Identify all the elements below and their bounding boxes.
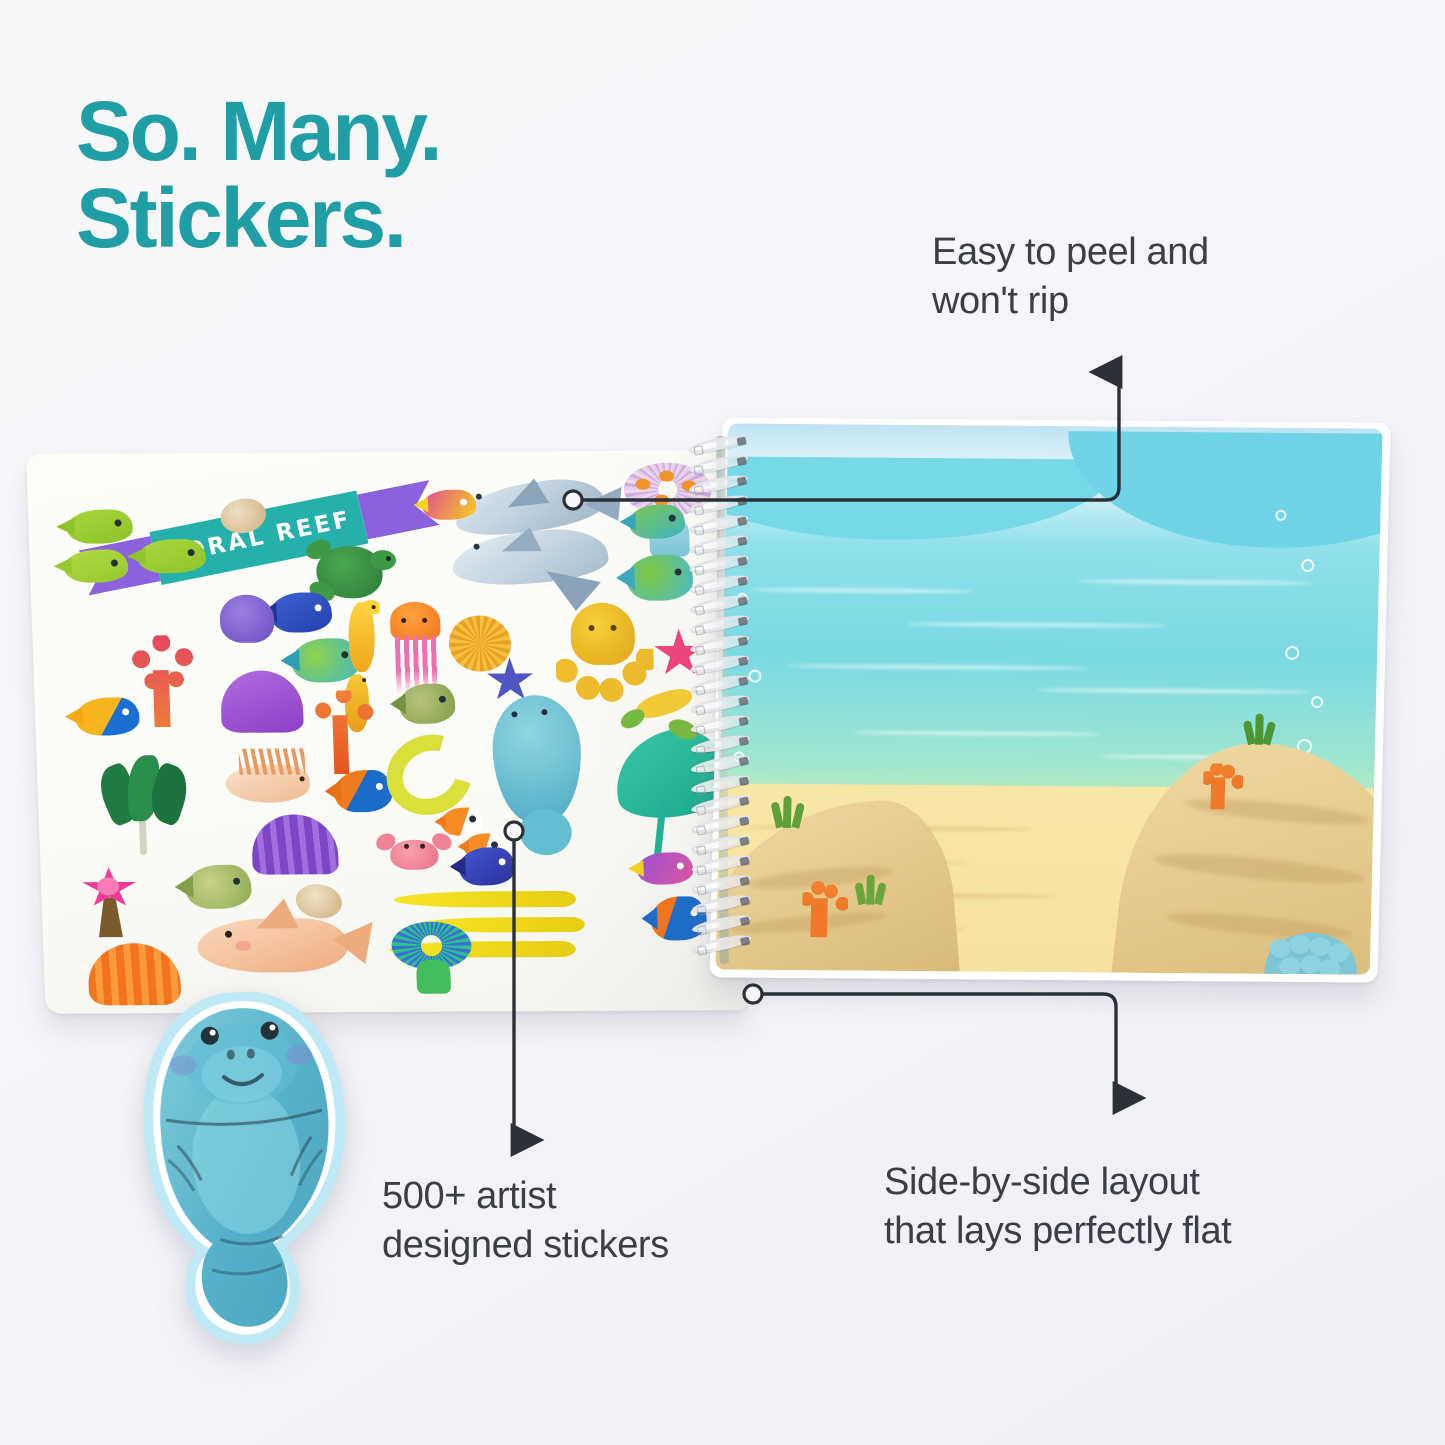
bubble-icon bbox=[1310, 696, 1322, 708]
sticker-red-coral bbox=[128, 635, 205, 727]
sticker-dolphin-pair bbox=[445, 479, 620, 610]
page-background: So. Many. Stickers. CORAL REEF bbox=[0, 0, 1445, 1445]
banner-label: CORAL REEF bbox=[164, 506, 355, 569]
sticker-clownfish bbox=[464, 833, 505, 859]
sticker-manatee bbox=[487, 695, 591, 855]
sticker-shark bbox=[190, 900, 373, 985]
sticker-fairy-basslet bbox=[636, 852, 693, 884]
callout-flat-text: Side-by-side layout that lays perfectly … bbox=[884, 1158, 1231, 1257]
sticker-trumpetfish bbox=[389, 941, 576, 958]
sticker-seahorse bbox=[343, 602, 382, 680]
sticker-nautilus bbox=[448, 615, 512, 671]
sticker-trumpetfish bbox=[415, 917, 586, 933]
sticker-cowrie-shell bbox=[217, 494, 270, 537]
sticker-blue-tang bbox=[269, 592, 332, 632]
ocean-scene bbox=[716, 423, 1383, 974]
banner-tail-right bbox=[357, 480, 440, 540]
sticker-pufferfish bbox=[185, 865, 253, 909]
sticker-green-fish bbox=[137, 539, 206, 573]
sticker-angelfish bbox=[75, 697, 140, 735]
sticker-pufferfish bbox=[398, 684, 455, 724]
sticker-octopus bbox=[548, 603, 662, 712]
sticker-green-fish bbox=[63, 549, 128, 582]
sticker-green-fish bbox=[628, 505, 685, 539]
sticker-spotted-fish bbox=[291, 638, 361, 682]
sea-grass bbox=[854, 873, 895, 905]
sticker-green-anemone bbox=[389, 921, 476, 993]
callout-count-text: 500+ artist designed stickers bbox=[382, 1172, 669, 1271]
sticker-angelfish bbox=[333, 770, 392, 812]
rock-formation-right bbox=[1110, 731, 1383, 975]
bubble-icon bbox=[1285, 646, 1299, 660]
spiral-binding bbox=[688, 434, 756, 968]
scene-orange-coral bbox=[801, 881, 848, 937]
sticker-jellyfish bbox=[385, 602, 446, 698]
sticker-grid: CORAL REEF bbox=[26, 450, 746, 1013]
sticker-moray-eel bbox=[384, 736, 483, 822]
scene-orange-coral bbox=[1203, 763, 1244, 809]
sticker-crab bbox=[375, 830, 453, 882]
banner-tail-left bbox=[78, 536, 161, 596]
sticker-blue-starfish bbox=[485, 657, 535, 703]
banner-ribbon: CORAL REEF bbox=[149, 491, 368, 585]
sticker-cowrie-shell bbox=[294, 881, 343, 921]
sticker-purple-fan-coral bbox=[220, 670, 304, 732]
callout-peel-text: Easy to peel and won't rip bbox=[932, 228, 1209, 327]
sticker-blue-tang bbox=[458, 847, 515, 885]
sticker-purple-tube-coral bbox=[251, 814, 339, 874]
underwater-scene-page bbox=[709, 417, 1390, 982]
sticker-purple-coral-ball bbox=[219, 595, 275, 643]
sticker-pufferfish bbox=[626, 554, 694, 600]
wave-shape bbox=[716, 456, 1121, 541]
sticker-sheet-page: CORAL REEF bbox=[26, 450, 746, 1013]
sea-grass bbox=[1243, 712, 1284, 744]
sticker-orange-coral bbox=[313, 690, 378, 774]
bubble-icon bbox=[1301, 559, 1314, 572]
sticker-green-fish bbox=[66, 509, 133, 543]
sticker-lionfish bbox=[212, 748, 322, 811]
sticker-magenta-fish bbox=[422, 490, 477, 520]
sea-grass bbox=[771, 796, 812, 828]
coral-reef-banner: CORAL REEF bbox=[122, 485, 396, 592]
manatee-sticker bbox=[116, 986, 380, 1358]
sticker-trumpetfish bbox=[394, 891, 577, 908]
sticker-seahorse bbox=[342, 674, 376, 736]
sticker-kelp bbox=[101, 755, 193, 855]
sticker-sea-turtle bbox=[303, 538, 397, 604]
sticker-pink-anemone bbox=[81, 867, 139, 937]
sticker-clownfish bbox=[441, 807, 484, 835]
wave-shape bbox=[1066, 432, 1383, 550]
